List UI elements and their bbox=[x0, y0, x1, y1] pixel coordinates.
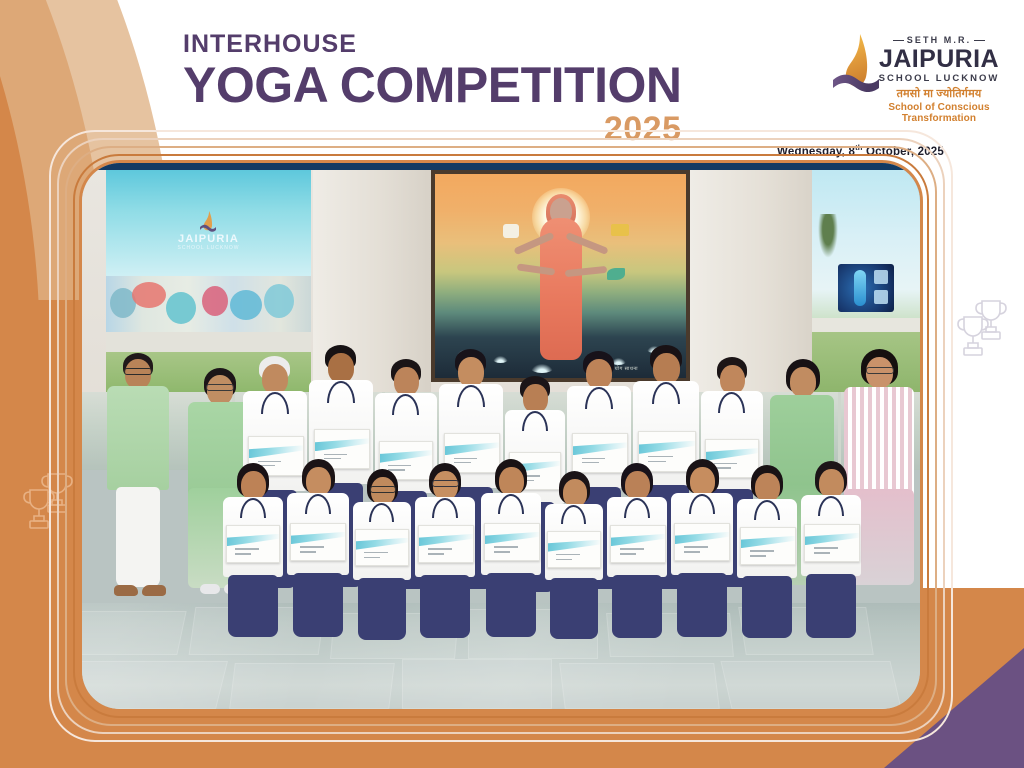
group-photo-frame: JAIPURIA SCHOOL LUCKNOW bbox=[82, 163, 920, 709]
glasses-icon bbox=[206, 384, 234, 391]
certificate bbox=[290, 523, 346, 561]
certificate bbox=[355, 529, 409, 566]
person-student-front-9 bbox=[736, 465, 800, 641]
person-student-front-2 bbox=[286, 459, 352, 639]
painting-lotus-3 bbox=[531, 364, 553, 373]
person-teacher-male bbox=[104, 353, 180, 603]
person-student-front-8 bbox=[670, 459, 736, 641]
glasses-icon bbox=[866, 367, 894, 374]
painting-object-right bbox=[611, 224, 629, 236]
logo-name: JAIPURIA bbox=[873, 47, 1005, 72]
screen-brand-sub: SCHOOL LUCKNOW bbox=[178, 245, 240, 251]
screen-right-anatomy-panel bbox=[838, 264, 894, 312]
anatomy-box-bottom bbox=[874, 290, 888, 304]
painting-object-leaf bbox=[607, 268, 625, 280]
certificate bbox=[740, 527, 796, 565]
person-student-front-6 bbox=[544, 471, 606, 641]
glasses-icon bbox=[370, 486, 396, 493]
anatomy-figure-icon bbox=[854, 270, 866, 306]
poster-header: INTERHOUSE YOGA COMPETITION 2025 bbox=[0, 0, 1024, 160]
person-student-front-7 bbox=[606, 463, 670, 641]
logo-tagline: School of Conscious Transformation bbox=[873, 102, 1005, 124]
person-student-front-5 bbox=[480, 459, 544, 641]
certificate bbox=[674, 523, 730, 561]
logo-seth-line: SETH M.R. bbox=[893, 35, 985, 45]
glasses-icon bbox=[124, 368, 152, 375]
certificate bbox=[484, 523, 540, 561]
photo-scene: JAIPURIA SCHOOL LUCKNOW bbox=[82, 163, 920, 709]
ceiling-strip bbox=[82, 163, 920, 170]
logo-text-block: SETH M.R. JAIPURIA SCHOOL LUCKNOW तमसो म… bbox=[873, 30, 1005, 124]
trophy-pair-left-icon bbox=[22, 468, 80, 530]
school-logo: SETH M.R. JAIPURIA SCHOOL LUCKNOW तमसो म… bbox=[833, 30, 1003, 116]
person-student-front-4 bbox=[414, 463, 478, 641]
poster-canvas: INTERHOUSE YOGA COMPETITION 2025 bbox=[0, 0, 1024, 768]
person-student-front-10 bbox=[800, 461, 864, 641]
event-date-suffix: October, 2025 bbox=[863, 146, 944, 158]
screen-brand: JAIPURIA bbox=[178, 233, 240, 245]
certificate bbox=[547, 531, 601, 568]
screen-flame-icon bbox=[200, 210, 216, 232]
person-student-front-1 bbox=[222, 463, 286, 639]
event-date: Wednesday, 8th October, 2025 bbox=[0, 143, 944, 158]
logo-sanskrit-motto: तमसो मा ज्योतिर्गमय bbox=[873, 86, 1005, 101]
event-date-ordinal: th bbox=[855, 143, 862, 152]
person-student-front-3 bbox=[352, 469, 414, 641]
glasses-icon bbox=[432, 480, 459, 487]
group-photo: JAIPURIA SCHOOL LUCKNOW bbox=[82, 163, 920, 709]
trophy-pair-right-icon bbox=[956, 295, 1014, 357]
screen-left-logo: JAIPURIA SCHOOL LUCKNOW bbox=[178, 210, 240, 251]
title-block: INTERHOUSE YOGA COMPETITION 2025 bbox=[183, 32, 682, 149]
screen-right-tree bbox=[818, 214, 838, 258]
anatomy-box-top bbox=[874, 270, 888, 284]
certificate bbox=[226, 525, 280, 563]
event-date-prefix: Wednesday, 8 bbox=[777, 146, 855, 158]
screen-artwork-band bbox=[106, 276, 311, 338]
logo-school-line: SCHOOL LUCKNOW bbox=[873, 73, 1005, 84]
certificate bbox=[804, 524, 860, 562]
certificate bbox=[418, 525, 474, 563]
event-kicker: INTERHOUSE bbox=[183, 32, 682, 57]
page-title: YOGA COMPETITION bbox=[183, 59, 682, 112]
painting-object-left bbox=[503, 224, 519, 238]
screen-building bbox=[106, 332, 311, 354]
certificate bbox=[610, 525, 666, 563]
